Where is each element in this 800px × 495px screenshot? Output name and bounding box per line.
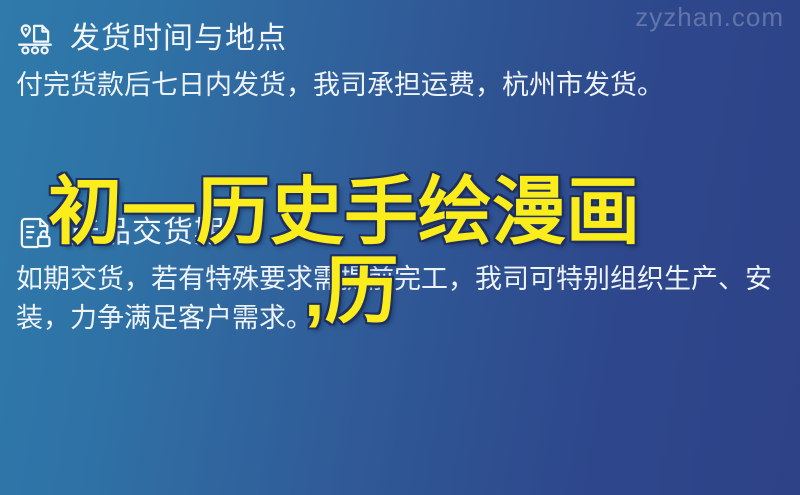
spacer — [14, 104, 786, 212]
section-delivery-header: 产品交货期 — [14, 212, 786, 254]
section-shipping-header: 发货时间与地点 — [14, 18, 786, 60]
document-lock-icon — [14, 212, 56, 254]
delivery-truck-location-icon — [14, 18, 56, 60]
section-delivery-body: 如期交货，若有特殊要求需提前完工，我司可特别组织生产、安装，力争满足客户需求。 — [16, 260, 786, 337]
section-shipping-title: 发货时间与地点 — [70, 21, 287, 57]
section-shipping-body: 付完货款后七日内发货，我司承担运费，杭州市发货。 — [16, 66, 786, 104]
section-delivery-title: 产品交货期 — [70, 215, 225, 251]
banner-content: 发货时间与地点 付完货款后七日内发货，我司承担运费，杭州市发货。 产品交货期 如… — [0, 0, 800, 495]
product-info-banner: zyzhan.com 发货时间与地点 付完货款后七日内发货，我司承担运费，杭州市… — [0, 0, 800, 495]
